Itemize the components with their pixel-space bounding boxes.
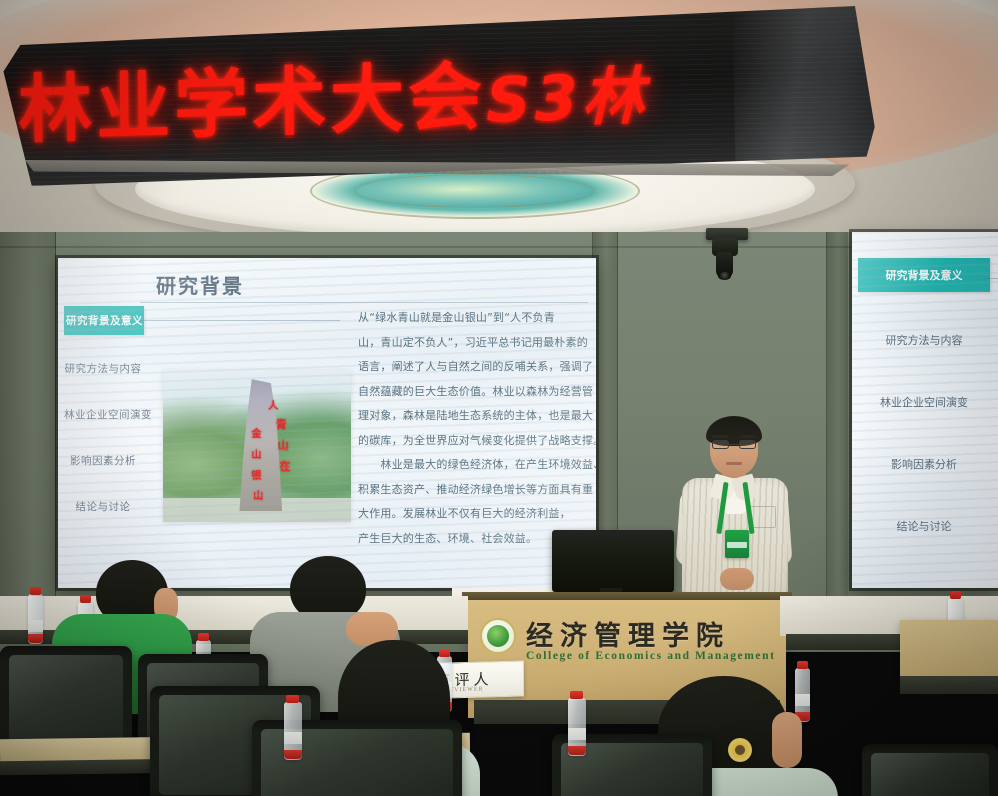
slide-body-text: 从“绿水青山就是金山银山”到“人不负青 山，青山定不负人”，习近平总书记用最朴素…	[358, 306, 584, 551]
emblem-globe	[355, 174, 595, 208]
speaker-eyebrow-right	[740, 435, 756, 438]
main-projection-screen[interactable]: 研究背景 研究背景及意义 研究方法与内容 林业企业空间演变 影响因素分析 结论与…	[58, 258, 596, 588]
speaker-shirt-pocket	[750, 506, 776, 528]
monument-char-1: 人	[268, 397, 278, 412]
speaker-hands	[720, 568, 754, 590]
slide-nav-item-conclusion[interactable]: 结论与讨论	[62, 494, 144, 519]
bottle-cap	[30, 587, 41, 595]
side-nav-connector	[984, 278, 998, 279]
presenting-speaker	[676, 418, 794, 618]
presenter-monitor	[552, 530, 674, 592]
water-bottle[interactable]	[568, 698, 586, 756]
wall-column-left	[0, 232, 56, 632]
slide-nav-item-factor-analysis[interactable]: 影响因素分析	[62, 448, 144, 473]
person-hand	[772, 712, 802, 768]
slide-body-line: 语言，阐述了人与自然之间的反哺关系，强调了	[358, 355, 584, 380]
chair-mesh	[871, 753, 989, 796]
speaker-eyebrow-left	[712, 435, 728, 438]
bottle-cap	[950, 591, 961, 599]
side-projection-screen[interactable]: 研究背景及意义 研究方法与内容 林业企业空间演变 影响因素分析 结论与讨论	[852, 232, 998, 588]
bottle-label	[28, 620, 43, 632]
slide-body-line: 山，青山定不负人”，习近平总书记用最朴素的	[358, 331, 584, 356]
side-desk-right-shadow	[900, 676, 998, 694]
speaker-badge-strip	[727, 542, 747, 548]
bottle-cap	[797, 661, 808, 669]
college-logo	[480, 618, 516, 654]
bottle-cap	[198, 633, 209, 641]
lectern-title-en: College of Economics and Management	[526, 650, 776, 662]
slide-body-line: 大作用。发展林业不仅有巨大的经济利益，	[358, 502, 584, 527]
led-glass-sheen	[732, 6, 875, 173]
monument-char-4: 在	[280, 458, 291, 474]
bottle-cap	[570, 691, 583, 699]
slide-body-line: 理对象，森林是陆地生态系统的主体，也是最大	[358, 404, 584, 429]
camera-glass	[718, 272, 731, 280]
monument-char-6: 山	[251, 446, 261, 461]
stone-monument-photo: 人 青 山 在 金 山 银 山	[163, 370, 351, 522]
speaker-mouth	[726, 462, 742, 465]
water-bottle[interactable]	[284, 702, 302, 760]
speaker-lens-left	[712, 440, 729, 449]
college-logo-leaf	[487, 625, 509, 647]
slide-nav-item-methods[interactable]: 研究方法与内容	[62, 356, 144, 381]
monument-char-8: 山	[253, 487, 263, 502]
monument-char-5: 金	[251, 425, 261, 440]
bottle-base-band	[284, 750, 302, 759]
speaker-badge	[725, 530, 749, 558]
led-banner-suffix: S3林	[486, 59, 649, 137]
side-desk-right	[900, 620, 998, 680]
slide-title: 研究背景	[156, 270, 244, 299]
wall-column-right	[826, 232, 848, 632]
side-slide-nav: 研究背景及意义 研究方法与内容 林业企业空间演变 影响因素分析 结论与讨论	[858, 258, 990, 574]
side-nav-item-background[interactable]: 研究背景及意义	[858, 258, 990, 292]
slide-nav-item-spatial-evolution[interactable]: 林业企业空间演变	[62, 402, 144, 427]
bottle-base-band	[28, 634, 43, 643]
hair-flower-clip	[728, 738, 752, 762]
side-nav-item-factor-analysis[interactable]: 影响因素分析	[858, 450, 990, 478]
chair-mesh	[9, 655, 123, 747]
led-banner-main: 林业学术大会	[18, 54, 487, 154]
slide-nav-connector	[140, 320, 340, 321]
slide-title-rule	[140, 302, 588, 303]
bottle-base-band	[568, 746, 586, 755]
speaker-lens-right	[739, 440, 756, 449]
water-bottle[interactable]	[28, 594, 43, 644]
side-nav-item-spatial-evolution[interactable]: 林业企业空间演变	[858, 388, 990, 416]
bottle-cap	[286, 695, 299, 703]
slide-canvas: 研究背景 研究背景及意义 研究方法与内容 林业企业空间演变 影响因素分析 结论与…	[58, 258, 596, 588]
slide-body-line: 自然蕴藏的巨大生态价值。林业以森林为经营管	[358, 380, 584, 405]
conference-hall-photo: NORTHWEST A&F UNIVERSITY 林业学术大会S3林 研究背景 …	[0, 0, 998, 796]
lectern-title-cn: 经济管理学院	[526, 614, 730, 653]
monument-char-7: 银	[251, 467, 261, 482]
slide-body-line: 积累生态资产、推动经济绿色增长等方面具有重	[358, 478, 584, 503]
side-nav-item-conclusion[interactable]: 结论与讨论	[858, 512, 990, 540]
side-nav-item-methods[interactable]: 研究方法与内容	[858, 326, 990, 354]
speaker-glasses-bridge	[729, 444, 739, 445]
chair[interactable]	[862, 744, 998, 796]
monument-char-3: 山	[278, 437, 289, 453]
bottle-label	[568, 728, 586, 740]
speaker-glasses	[712, 440, 756, 449]
monument-char-2: 青	[276, 416, 287, 432]
slide-body-line: 产生巨大的生态、环境、社会效益。	[358, 527, 584, 552]
slide-nav-item-background[interactable]: 研究背景及意义	[64, 306, 144, 335]
bottle-label	[284, 732, 302, 744]
wall-seam-top	[0, 246, 998, 248]
side-slide-canvas: 研究背景及意义 研究方法与内容 林业企业空间演变 影响因素分析 结论与讨论	[852, 232, 998, 588]
slide-body-line: 林业是最大的绿色经济体，在产生环境效益、	[358, 453, 584, 478]
slide-nav: 研究背景及意义 研究方法与内容 林业企业空间演变 影响因素分析 结论与讨论	[62, 306, 144, 540]
slide-body-line: 从“绿水青山就是金山银山”到“人不负青	[358, 306, 584, 331]
slide-body-line: 的碳库，为全世界应对气候变化提供了战略支撑。	[358, 429, 584, 454]
